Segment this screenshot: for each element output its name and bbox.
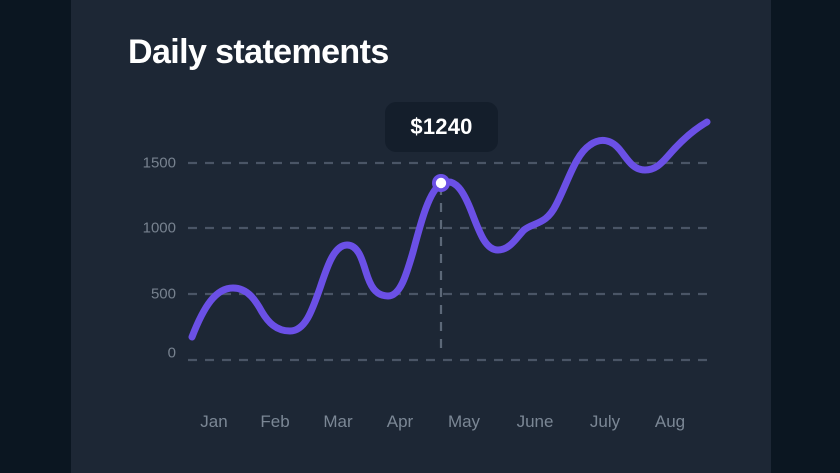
y-tick-1000: 1000: [126, 220, 176, 237]
x-tick-jan: Jan: [200, 412, 227, 432]
x-tick-feb: Feb: [260, 412, 289, 432]
app-root: Daily statements 1500 1000 500 0 Jan Feb…: [0, 0, 840, 473]
page-title: Daily statements: [128, 33, 389, 72]
x-tick-mar: Mar: [323, 412, 352, 432]
x-tick-apr: Apr: [387, 412, 413, 432]
tooltip-value-label: $1240: [410, 114, 472, 140]
y-tick-500: 500: [126, 286, 176, 303]
y-tick-0: 0: [126, 345, 176, 362]
y-tick-1500: 1500: [126, 155, 176, 172]
x-tick-june: June: [517, 412, 554, 432]
x-tick-may: May: [448, 412, 480, 432]
x-tick-july: July: [590, 412, 620, 432]
x-tick-aug: Aug: [655, 412, 685, 432]
value-tooltip: $1240: [385, 102, 498, 152]
